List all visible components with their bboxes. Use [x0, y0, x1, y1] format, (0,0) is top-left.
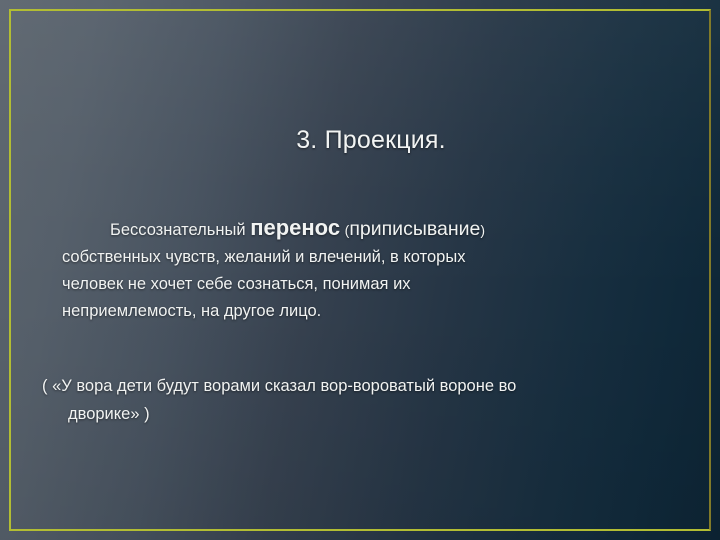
definition-line-4: неприемлемость, на другое лицо. — [62, 302, 321, 320]
definition-paragraph: Бессознательный перенос (приписывание) с… — [62, 214, 662, 325]
presentation-slide: 3. Проекция. Бессознательный перенос (пр… — [0, 0, 720, 540]
definition-text: Бессознательный перенос (приписывание) с… — [62, 214, 662, 325]
slide-title-text: 3. Проекция. — [274, 126, 446, 155]
definition-line-3: человек не хочет себе сознаться, понимая… — [62, 275, 411, 293]
slide-content: 3. Проекция. Бессознательный перенос (пр… — [0, 0, 720, 540]
definition-line-2: собственных чувств, желаний и влечений, … — [62, 248, 465, 266]
page-title: 3. Проекция. — [0, 126, 720, 155]
quote-line-1: ( «У вора дети будут ворами сказал вор-в… — [42, 372, 682, 400]
definition-paren-close: ) — [480, 222, 485, 238]
example-quote: ( «У вора дети будут ворами сказал вор-в… — [42, 372, 682, 428]
quote-line-2: дворике» ) — [42, 400, 682, 428]
definition-paren-text: приписывание — [349, 218, 480, 240]
definition-lead-in: Бессознательный — [62, 221, 246, 239]
definition-emphasis-word: перенос — [250, 215, 340, 240]
